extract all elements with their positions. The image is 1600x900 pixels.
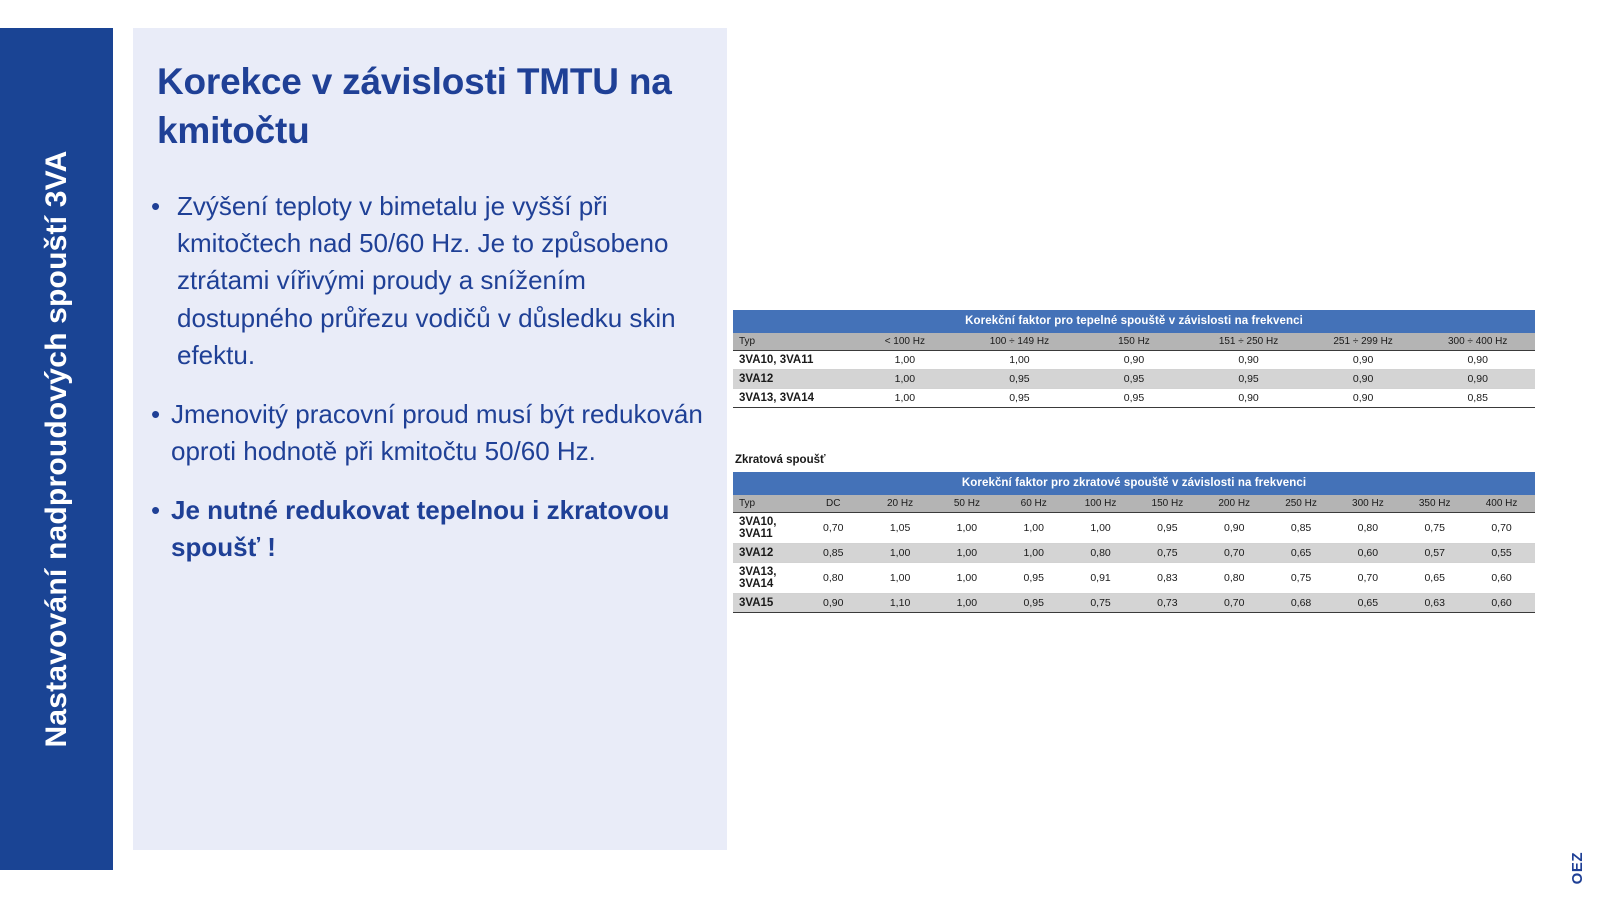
table-cell: 0,90	[1306, 370, 1421, 389]
table-cell: 0,70	[1468, 513, 1535, 544]
table-cell: 0,80	[1067, 544, 1134, 563]
sidebar-title: Nastavování nadproudových spouští 3VA	[40, 151, 74, 748]
table-cell: 0,70	[1334, 563, 1401, 594]
tables-area: Korekční faktor pro tepelné spouště v zá…	[733, 310, 1535, 613]
row-type-label: 3VA12	[733, 544, 800, 563]
column-header: < 100 Hz	[848, 333, 963, 351]
column-header: Typ	[733, 333, 848, 351]
table-cell: 0,75	[1268, 563, 1335, 594]
column-header: Typ	[733, 495, 800, 513]
table-cell: 1,05	[867, 513, 934, 544]
table-cell: 0,90	[1420, 351, 1535, 370]
column-header: 100 ÷ 149 Hz	[962, 333, 1077, 351]
table-cell: 0,95	[1000, 594, 1067, 613]
table-cell: 1,00	[848, 389, 963, 408]
table-cell: 0,90	[1306, 389, 1421, 408]
column-header: 20 Hz	[867, 495, 934, 513]
column-header: 350 Hz	[1401, 495, 1468, 513]
row-type-label: 3VA10, 3VA11	[733, 513, 800, 544]
page-title: Korekce v závislosti TMTU na kmitočtu	[157, 58, 702, 156]
table-cell: 0,68	[1268, 594, 1335, 613]
table-cell: 0,90	[1306, 351, 1421, 370]
table-cell: 0,95	[1134, 513, 1201, 544]
table-cell: 0,85	[800, 544, 867, 563]
table-cell: 1,10	[867, 594, 934, 613]
bullet-item: •Jmenovitý pracovní proud musí být reduk…	[151, 396, 711, 470]
table-cell: 0,63	[1401, 594, 1468, 613]
thermal-release-header-row: Typ< 100 Hz100 ÷ 149 Hz150 Hz151 ÷ 250 H…	[733, 333, 1535, 351]
bullet-item: •Je nutné redukovat tepelnou i zkratovou…	[151, 492, 711, 566]
table-row: 3VA13, 3VA141,000,950,950,900,900,85	[733, 389, 1535, 408]
table-cell: 0,90	[1201, 513, 1268, 544]
table-cell: 0,90	[1191, 351, 1306, 370]
table-row: 3VA120,851,001,001,000,800,750,700,650,6…	[733, 544, 1535, 563]
short-circuit-release-table-wrapper: Zkratová spoušť Korekční faktor pro zkra…	[733, 454, 1535, 613]
column-header: 300 ÷ 400 Hz	[1420, 333, 1535, 351]
table-cell: 0,75	[1134, 544, 1201, 563]
table-row: 3VA13, 3VA140,801,001,000,950,910,830,80…	[733, 563, 1535, 594]
column-header: 150 Hz	[1134, 495, 1201, 513]
table-spacer	[733, 408, 1535, 454]
table-cell: 1,00	[962, 351, 1077, 370]
bullet-marker: •	[151, 396, 171, 433]
table-cell: 0,60	[1468, 594, 1535, 613]
short-circuit-release-band-title: Korekční faktor pro zkratové spouště v z…	[733, 472, 1535, 495]
table-cell: 0,90	[1420, 370, 1535, 389]
table-cell: 0,95	[1191, 370, 1306, 389]
table-cell: 0,95	[1077, 370, 1192, 389]
short-circuit-release-table: Zkratová spoušť Korekční faktor pro zkra…	[733, 454, 1535, 613]
column-header: 250 Hz	[1268, 495, 1335, 513]
column-header: 100 Hz	[1067, 495, 1134, 513]
table-cell: 0,80	[800, 563, 867, 594]
column-header: DC	[800, 495, 867, 513]
bullet-text: Je nutné redukovat tepelnou i zkratovou …	[171, 492, 711, 566]
table-cell: 1,00	[933, 563, 1000, 594]
thermal-release-band-title: Korekční faktor pro tepelné spouště v zá…	[733, 310, 1535, 333]
row-type-label: 3VA12	[733, 370, 848, 389]
table-cell: 1,00	[848, 351, 963, 370]
table-cell: 1,00	[1000, 544, 1067, 563]
table-row: 3VA121,000,950,950,950,900,90	[733, 370, 1535, 389]
table-cell: 1,00	[1067, 513, 1134, 544]
content-panel: Korekce v závislosti TMTU na kmitočtu •Z…	[133, 28, 727, 850]
column-header: 300 Hz	[1334, 495, 1401, 513]
table-cell: 0,65	[1334, 594, 1401, 613]
table-cell: 1,00	[933, 513, 1000, 544]
row-type-label: 3VA15	[733, 594, 800, 613]
table-cell: 1,00	[848, 370, 963, 389]
table-cell: 0,83	[1134, 563, 1201, 594]
table-cell: 1,00	[933, 544, 1000, 563]
column-header: 60 Hz	[1000, 495, 1067, 513]
table-cell: 0,95	[1077, 389, 1192, 408]
column-header: 400 Hz	[1468, 495, 1535, 513]
column-header: 200 Hz	[1201, 495, 1268, 513]
bullet-item: •Zvýšení teploty v bimetalu je vyšší při…	[151, 188, 711, 374]
thermal-release-body: 3VA10, 3VA111,001,000,900,900,900,903VA1…	[733, 351, 1535, 408]
table-cell: 0,65	[1268, 544, 1335, 563]
row-type-label: 3VA13, 3VA14	[733, 389, 848, 408]
bullet-list: •Zvýšení teploty v bimetalu je vyšší při…	[151, 188, 711, 589]
table-cell: 0,60	[1334, 544, 1401, 563]
table-band-row: Korekční faktor pro tepelné spouště v zá…	[733, 310, 1535, 333]
table-cell: 0,95	[1000, 563, 1067, 594]
table-cell: 0,55	[1468, 544, 1535, 563]
thermal-release-table: Korekční faktor pro tepelné spouště v zá…	[733, 310, 1535, 408]
row-type-label: 3VA10, 3VA11	[733, 351, 848, 370]
bullet-text: Jmenovitý pracovní proud musí být reduko…	[171, 396, 711, 470]
table-cell: 0,85	[1268, 513, 1335, 544]
table-cell: 0,90	[800, 594, 867, 613]
table-row: 3VA10, 3VA110,701,051,001,001,000,950,90…	[733, 513, 1535, 544]
table-row: 3VA150,901,101,000,950,750,730,700,680,6…	[733, 594, 1535, 613]
table-cell: 0,60	[1468, 563, 1535, 594]
thermal-release-table-wrapper: Korekční faktor pro tepelné spouště v zá…	[733, 310, 1535, 408]
table-cell: 1,00	[933, 594, 1000, 613]
bullet-text: Zvýšení teploty v bimetalu je vyšší při …	[171, 188, 711, 374]
bullet-marker: •	[151, 188, 171, 225]
table-cell: 1,00	[867, 544, 934, 563]
bullet-marker: •	[151, 492, 171, 529]
short-circuit-release-body: 3VA10, 3VA110,701,051,001,001,000,950,90…	[733, 513, 1535, 613]
table-row: 3VA10, 3VA111,001,000,900,900,900,90	[733, 351, 1535, 370]
column-header: 50 Hz	[933, 495, 1000, 513]
table-cell: 0,70	[800, 513, 867, 544]
table-cell: 0,73	[1134, 594, 1201, 613]
table-cell: 0,95	[962, 389, 1077, 408]
table-cell: 0,91	[1067, 563, 1134, 594]
table-cell: 0,85	[1420, 389, 1535, 408]
table-cell: 0,80	[1201, 563, 1268, 594]
row-type-label: 3VA13, 3VA14	[733, 563, 800, 594]
column-header: 150 Hz	[1077, 333, 1192, 351]
table-cell: 1,00	[1000, 513, 1067, 544]
oez-logo: OEZ	[1569, 852, 1586, 884]
table-cell: 0,57	[1401, 544, 1468, 563]
sidebar-banner: Nastavování nadproudových spouští 3VA	[0, 28, 113, 870]
table-cell: 0,90	[1191, 389, 1306, 408]
table-cell: 0,95	[962, 370, 1077, 389]
table-cell: 0,90	[1077, 351, 1192, 370]
short-circuit-release-header-row: TypDC20 Hz50 Hz60 Hz100 Hz150 Hz200 Hz25…	[733, 495, 1535, 513]
table-band-row: Korekční faktor pro zkratové spouště v z…	[733, 472, 1535, 495]
table-cell: 0,75	[1067, 594, 1134, 613]
table-cell: 0,70	[1201, 594, 1268, 613]
table-cell: 0,75	[1401, 513, 1468, 544]
table-cell: 0,65	[1401, 563, 1468, 594]
table-cell: 0,80	[1334, 513, 1401, 544]
column-header: 251 ÷ 299 Hz	[1306, 333, 1421, 351]
table-cell: 1,00	[867, 563, 934, 594]
table-cell: 0,70	[1201, 544, 1268, 563]
column-header: 151 ÷ 250 Hz	[1191, 333, 1306, 351]
short-circuit-release-caption: Zkratová spoušť	[733, 454, 1535, 472]
